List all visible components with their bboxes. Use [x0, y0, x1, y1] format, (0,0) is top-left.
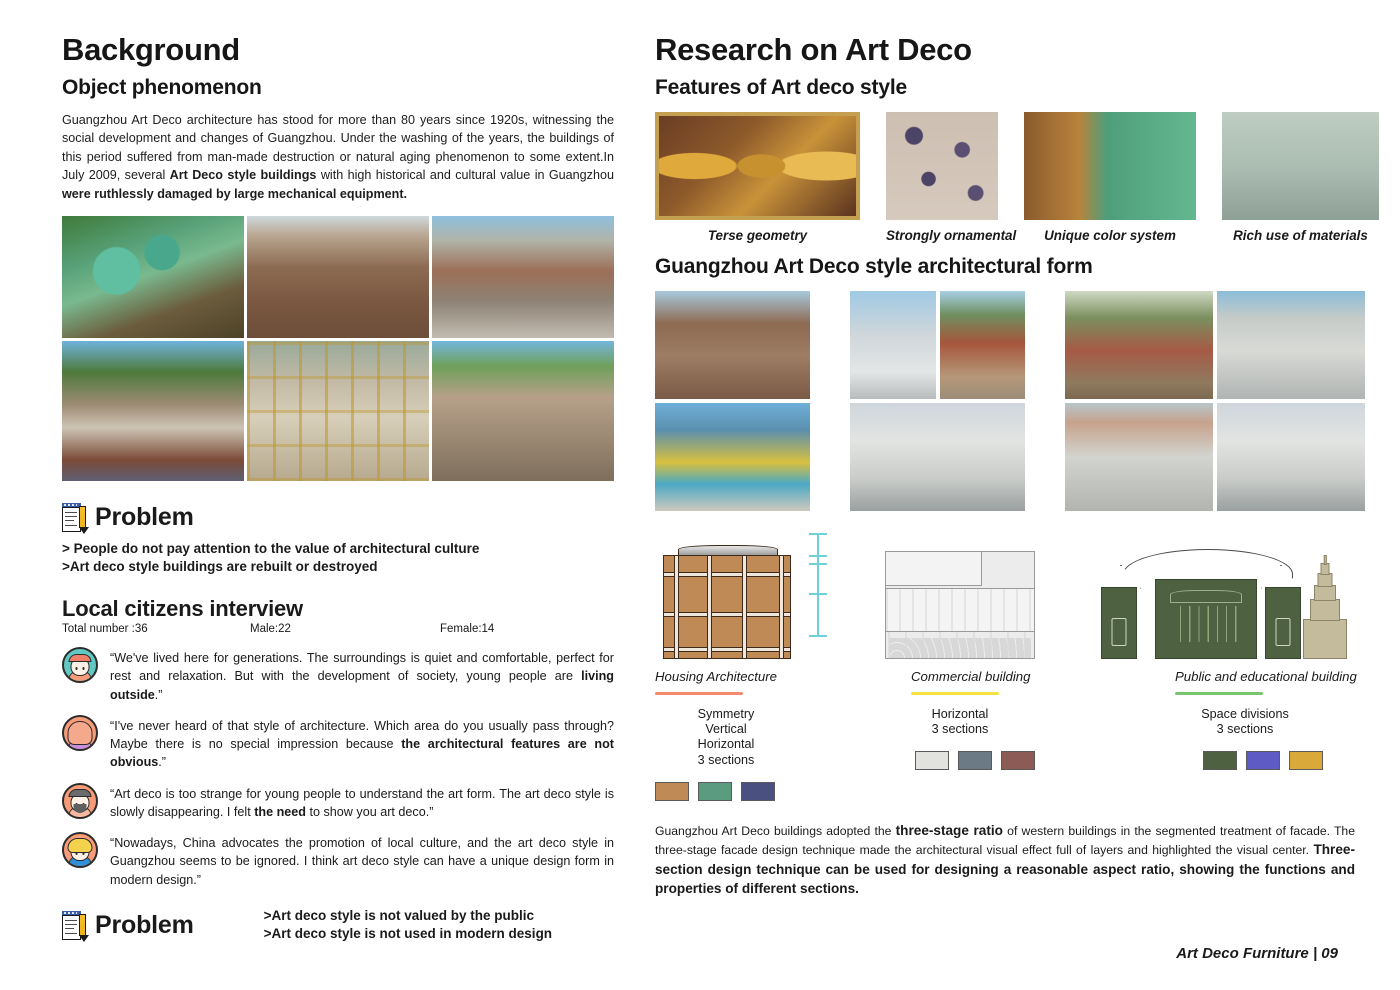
- quote-text: “I've never heard of that style of archi…: [110, 715, 614, 772]
- feature-image-unique-color-system: [1024, 112, 1196, 220]
- feature-image-rich-use-of-materials: [1222, 112, 1379, 220]
- diagram-housing: Housing Architecture Symmetry Vertical H…: [655, 533, 835, 801]
- form-photo-public-grey-terrace-row: [1217, 403, 1365, 511]
- form-photo-commercial-flatiron-tower: [940, 291, 1026, 399]
- conclusion-paragraph: Guangzhou Art Deco buildings adopted the…: [655, 821, 1355, 898]
- color-swatch: [1246, 751, 1280, 770]
- object-phenomenon-heading: Object phenomenon: [62, 76, 614, 100]
- color-swatch: [1289, 751, 1323, 770]
- interview-quotes: “We've lived here for generations. The s…: [62, 647, 614, 889]
- quote-text: “We've lived here for generations. The s…: [110, 647, 614, 704]
- problem-bullets-2: >Art deco style is not valued by the pub…: [264, 907, 552, 943]
- quote-text: “Nowadays, China advocates the promotion…: [110, 832, 614, 889]
- feature-caption: Strongly ornamental: [886, 228, 998, 243]
- form-photo-public-curved-white-block: [1217, 291, 1365, 399]
- photo-villa-behind-gate: [62, 341, 244, 481]
- form-photo-housing-villa-top: [655, 291, 810, 399]
- problem-bullet: >Art deco style is not used in modern de…: [264, 925, 552, 943]
- color-swatch: [655, 782, 689, 801]
- diagram-commercial: Commercial building Horizontal 3 section…: [875, 533, 1045, 801]
- form-column-commercial: [850, 291, 1025, 511]
- intro-paragraph: Guangzhou Art Deco architecture has stoo…: [62, 111, 614, 204]
- feature-caption: Unique color system: [1024, 228, 1196, 243]
- quote-item: “Nowadays, China advocates the promotion…: [62, 832, 614, 889]
- problem-bullet: >Art deco style buildings are rebuilt or…: [62, 558, 614, 576]
- stat-female: Female:14: [440, 623, 494, 635]
- feature-caption: Rich use of materials: [1222, 228, 1379, 243]
- form-photo-commercial-street-shops: [850, 291, 936, 399]
- document-pencil-icon: [62, 911, 86, 940]
- diagram-meta: Space divisions 3 sections: [1155, 707, 1335, 738]
- stat-male: Male:22: [250, 623, 291, 635]
- form-column-housing: [655, 291, 810, 511]
- photo-scaffold-green-net: [62, 216, 244, 338]
- form-column-public: [1065, 291, 1365, 511]
- research-title: Research on Art Deco: [655, 34, 1355, 67]
- feature-item: Strongly ornamental: [886, 112, 998, 243]
- problem-heading-1: Problem: [62, 503, 614, 532]
- color-swatch: [1203, 751, 1237, 770]
- feature-item: Terse geometry: [655, 112, 860, 243]
- page-footer: Art Deco Furniture | 09: [1176, 945, 1338, 962]
- feature-item: Rich use of materials: [1222, 112, 1379, 243]
- color-swatch: [915, 751, 949, 770]
- problem-title-2: Problem: [95, 911, 194, 940]
- problem-heading-2: Problem >Art deco style is not valued by…: [62, 907, 614, 943]
- building-type-diagrams: Housing Architecture Symmetry Vertical H…: [655, 533, 1355, 801]
- problem-bullet: > People do not pay attention to the val…: [62, 540, 614, 558]
- form-photo-housing-villa-bottom: [655, 403, 810, 511]
- form-photo-commercial-curved-corner: [850, 403, 1025, 511]
- problem-bullet: >Art deco style is not valued by the pub…: [264, 907, 552, 925]
- avatar-bearded-man: [62, 783, 98, 819]
- diagram-swatches: [655, 782, 835, 801]
- photo-street-rooftop-houses: [432, 216, 614, 338]
- stat-total: Total number :36: [62, 623, 148, 635]
- feature-image-strongly-ornamental: [886, 112, 998, 220]
- avatar-blonde-woman: [62, 832, 98, 868]
- feature-caption: Terse geometry: [655, 228, 860, 243]
- form-photo-public-red-colonnade: [1065, 403, 1213, 511]
- quote-item: “Art deco is too strange for young peopl…: [62, 783, 614, 822]
- left-column: Background Object phenomenon Guangzhou A…: [62, 34, 614, 943]
- color-swatch: [1001, 751, 1035, 770]
- architectural-form-heading: Guangzhou Art Deco style architectural f…: [655, 255, 1355, 279]
- portfolio-page: Background Object phenomenon Guangzhou A…: [0, 0, 1400, 990]
- interview-stats: Total number :36 Male:22 Female:14: [62, 623, 614, 640]
- diagram-label: Housing Architecture: [655, 669, 835, 684]
- quote-item: “I've never heard of that style of archi…: [62, 715, 614, 772]
- form-photo-public-chinese-hall: [1065, 291, 1213, 399]
- background-photo-grid: [62, 216, 614, 481]
- color-swatch: [698, 782, 732, 801]
- feature-image-terse-geometry: [655, 112, 860, 220]
- photo-bamboo-scaffolding-facade: [247, 341, 429, 481]
- diagram-label: Commercial building: [911, 669, 1045, 684]
- avatar-man-with-hat: [62, 647, 98, 683]
- feature-item: Unique color system: [1024, 112, 1196, 243]
- color-swatch: [958, 751, 992, 770]
- problem-bullets-1: > People do not pay attention to the val…: [62, 540, 614, 576]
- architectural-form-grid: [655, 291, 1355, 511]
- avatar-woman-with-glasses: [62, 715, 98, 751]
- quote-item: “We've lived here for generations. The s…: [62, 647, 614, 704]
- diagram-swatches: [1203, 751, 1400, 770]
- quote-text: “Art deco is too strange for young peopl…: [110, 783, 614, 822]
- diagram-swatches: [915, 751, 1045, 770]
- diagram-label: Public and educational building: [1175, 669, 1400, 684]
- features-heading: Features of Art deco style: [655, 76, 1355, 100]
- problem-title-1: Problem: [95, 503, 194, 532]
- photo-corner-apartment-block: [432, 341, 614, 481]
- public-diagram-graphic: [1085, 533, 1400, 661]
- housing-diagram-graphic: [655, 533, 835, 661]
- commercial-diagram-graphic: [875, 533, 1045, 661]
- diagram-public: Public and educational building Space di…: [1085, 533, 1400, 801]
- diagram-rule: [655, 692, 743, 695]
- diagram-meta: Horizontal 3 sections: [889, 707, 1031, 738]
- features-row: Terse geometry Strongly ornamental Uniqu…: [655, 112, 1355, 243]
- interview-heading: Local citizens interview: [62, 596, 614, 622]
- diagram-rule: [1175, 692, 1263, 695]
- right-column: Research on Art Deco Features of Art dec…: [655, 34, 1355, 898]
- page-title: Background: [62, 34, 614, 67]
- diagram-rule: [911, 692, 999, 695]
- setback-tower-graphic: [1303, 555, 1347, 659]
- diagram-meta: Symmetry Vertical Horizontal 3 sections: [655, 707, 797, 768]
- color-swatch: [741, 782, 775, 801]
- photo-brick-balcony-building: [247, 216, 429, 338]
- document-pencil-icon: [62, 503, 86, 532]
